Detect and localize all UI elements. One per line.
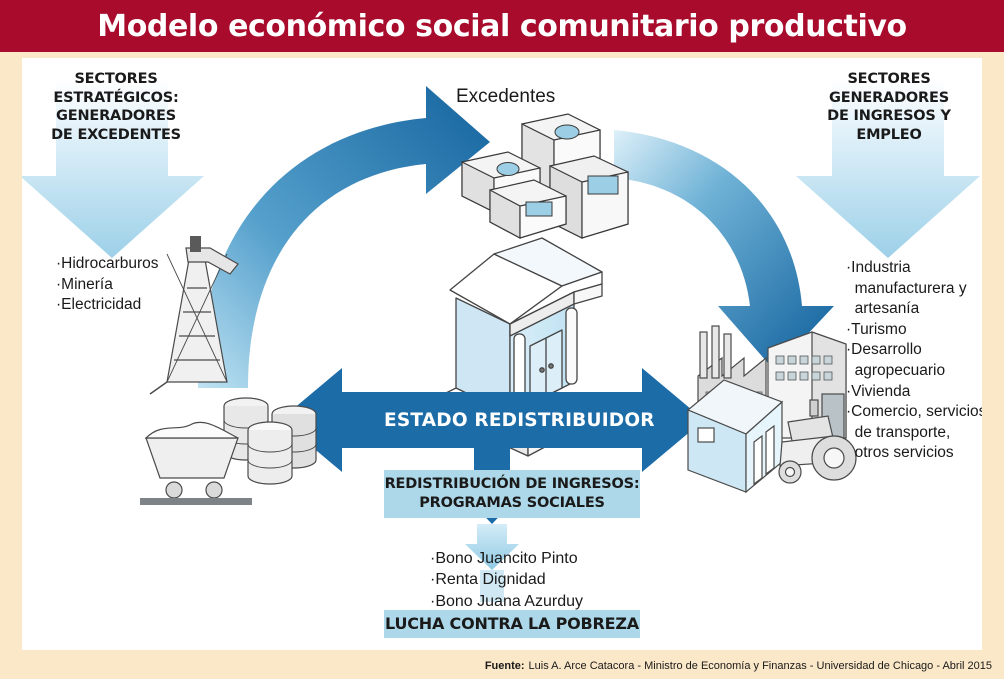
right-heading-line-4: EMPLEO [814,126,964,145]
list-item: ·Desarrollo [846,340,982,361]
list-item: ·Hidrocarburos [56,254,206,275]
list-item: artesanía [846,299,982,320]
list-item: ·Bono Juana Azurduy [430,591,660,612]
list-item: ·Renta Dignidad [430,569,660,590]
redistribucion-line-1: REDISTRIBUCIÓN DE INGRESOS: [385,475,640,494]
left-heading-line-2: ESTRATÉGICOS: [44,89,188,108]
list-item: manufacturera y [846,279,982,300]
right-heading-line-3: DE INGRESOS Y [814,107,964,126]
goal-bar: LUCHA CONTRA LA POBREZA [384,610,640,638]
source-text: Luis A. Arce Catacora - Ministro de Econ… [529,660,992,672]
header-bar: Modelo económico social comunitario prod… [0,0,1004,52]
diagram-canvas: SECTORES ESTRATÉGICOS: GENERADORES DE EX… [22,58,982,650]
list-item: otros servicios [846,443,982,464]
list-item: ·Industria [846,258,982,279]
list-item: ·Electricidad [56,295,206,316]
source-footer: Fuente: Luis A. Arce Catacora - Ministro… [0,652,1004,679]
redistribucion-line-2: PROGRAMAS SOCIALES [419,494,605,513]
money-stacks-icon [462,114,628,238]
list-item: agropecuario [846,361,982,382]
left-curved-arrow-icon [198,86,490,388]
source-prefix: Fuente: [485,660,525,672]
list-item: ·Minería [56,275,206,296]
list-item: ·Vivienda [846,382,982,403]
right-heading-line-1: SECTORES [814,70,964,89]
list-item: ·Comercio, servicios [846,402,982,423]
right-sector-bullets: ·Industria manufacturera y artesanía ·Tu… [846,258,982,464]
left-sector-bullets: ·Hidrocarburos ·Minería ·Electricidad [56,254,206,316]
list-item: de transporte, [846,423,982,444]
right-sector-heading: SECTORES GENERADORES DE INGRESOS Y EMPLE… [814,70,964,144]
list-item: ·Bono Juancito Pinto [430,548,660,569]
oil-barrels-icon [224,398,316,484]
left-heading-line-1: SECTORES [44,70,188,89]
surplus-label: Excedentes [456,86,555,108]
programs-list: ·Bono Juancito Pinto ·Renta Dignidad ·Bo… [430,548,660,612]
left-heading-line-3: GENERADORES [44,107,188,126]
list-item: ·Turismo [846,320,982,341]
redistribucion-box: REDISTRIBUCIÓN DE INGRESOS: PROGRAMAS SO… [384,470,640,518]
infographic-page: Modelo económico social comunitario prod… [0,0,1004,679]
left-sector-heading: SECTORES ESTRATÉGICOS: GENERADORES DE EX… [44,70,188,144]
right-heading-line-2: GENERADORES [814,89,964,108]
left-heading-line-4: DE EXCEDENTES [44,126,188,145]
page-title: Modelo económico social comunitario prod… [0,0,1004,52]
estado-redistribuidor-label: ESTADO REDISTRIBUIDOR [384,410,655,431]
